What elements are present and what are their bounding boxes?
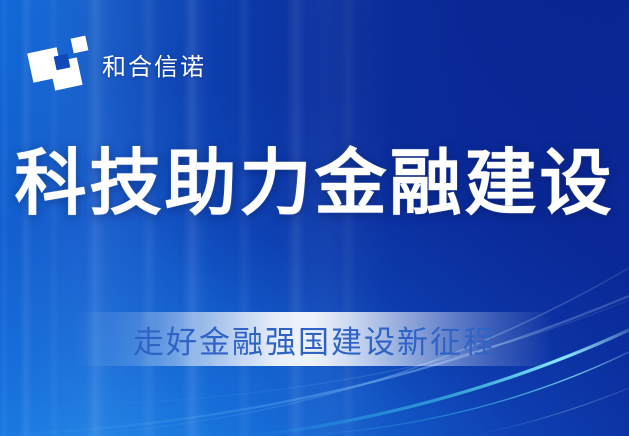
- brand-name-text: 和合信诺: [102, 47, 206, 82]
- page-title: 科技助力金融建设: [0, 148, 629, 220]
- brand-logo: 和合信诺: [28, 33, 206, 95]
- subtitle-band: 走好金融强国建设新征程: [0, 312, 629, 366]
- subtitle-text: 走好金融强国建设新征程: [133, 317, 496, 362]
- promo-banner: 和合信诺 科技助力金融建设 走好金融强国建设新征程: [0, 0, 629, 436]
- logo-square-small: [71, 36, 89, 54]
- rotated-squares-logo-icon: [28, 34, 94, 94]
- logo-square-inner-notch: [54, 54, 71, 71]
